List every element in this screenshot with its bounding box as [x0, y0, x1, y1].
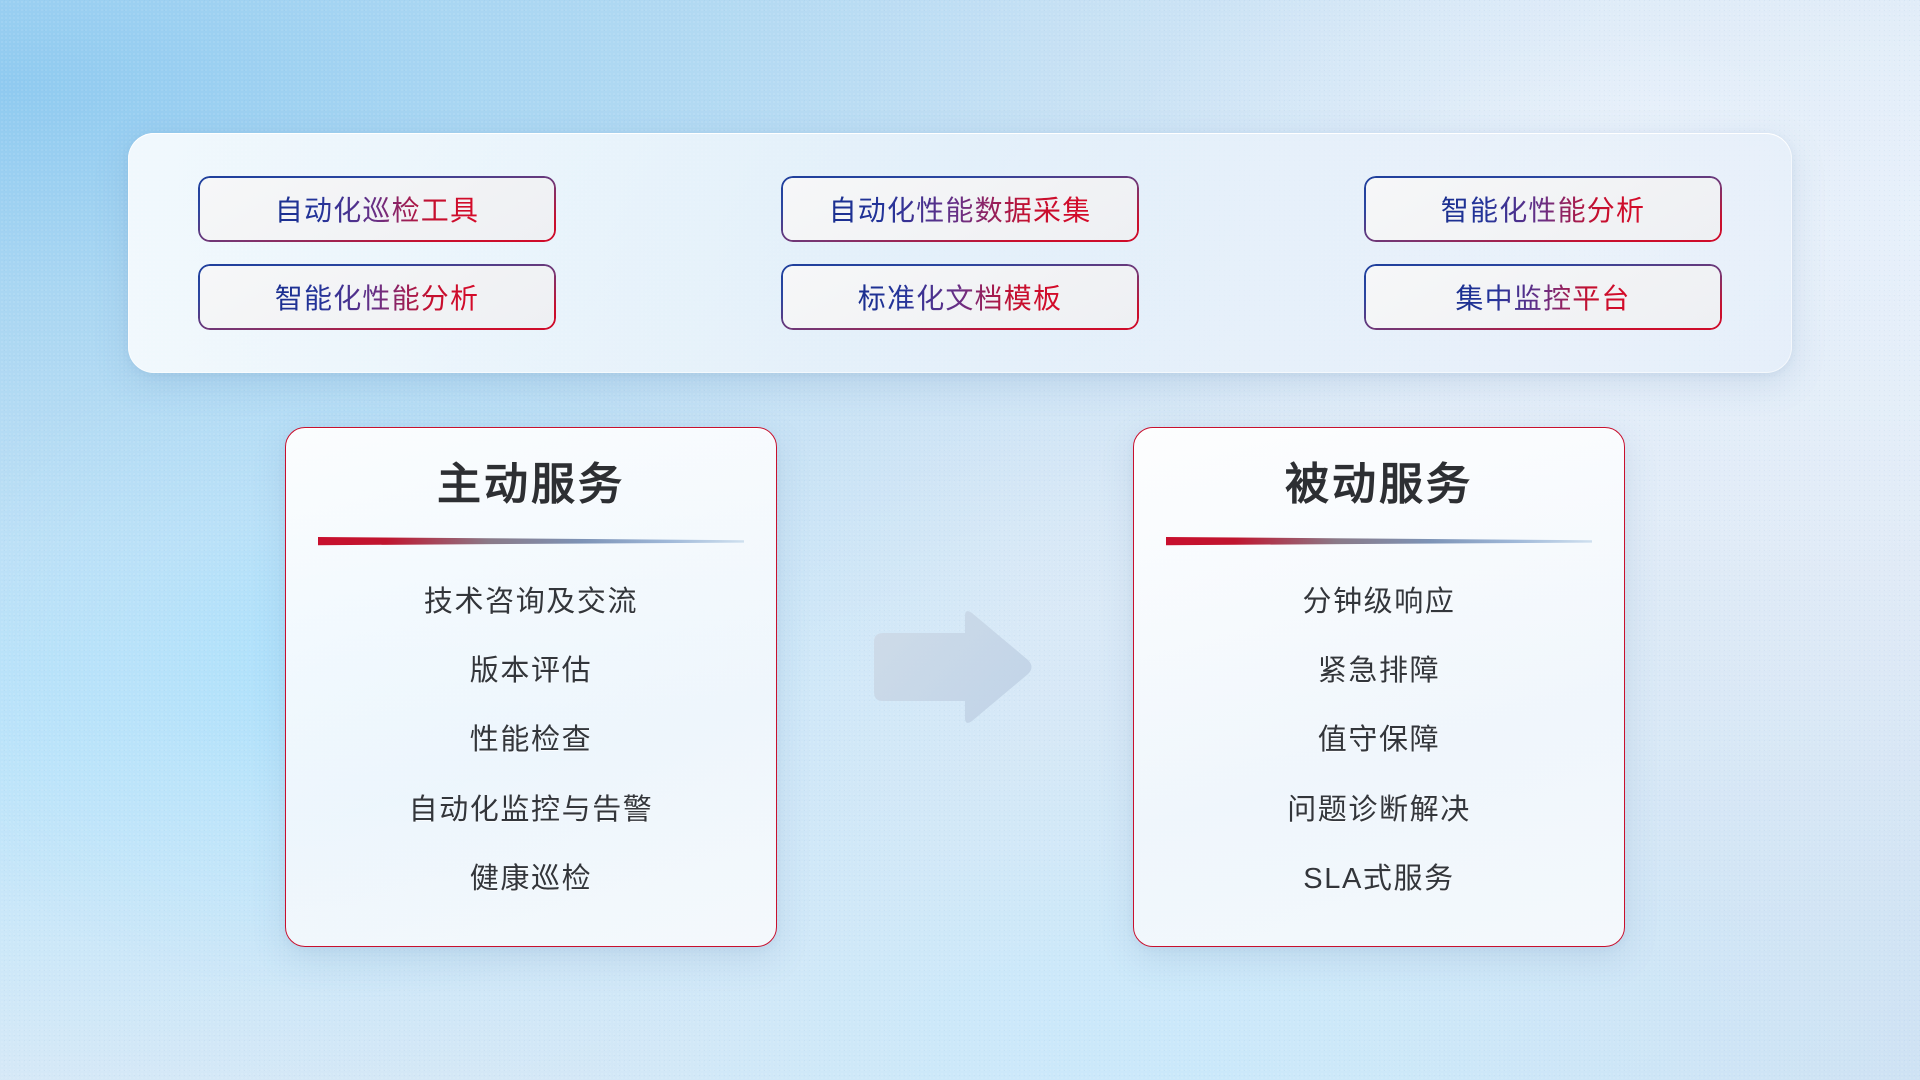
- arrow-right-icon: [868, 608, 1034, 726]
- capability-pill-label: 智能化性能分析: [1441, 189, 1645, 229]
- capability-pill-centralized-monitoring-platform[interactable]: 集中监控平台: [1364, 264, 1722, 330]
- service-card-proactive: 主动服务 技术咨询及交流 版本评估 性能检查 自动化监控与告警 健康巡检: [285, 427, 777, 947]
- list-item: 健康巡检: [470, 862, 592, 897]
- capabilities-row-1: 自动化巡检工具 自动化性能数据采集 智能化性能分析: [198, 176, 1722, 242]
- capability-pill-automated-inspection-tool[interactable]: 自动化巡检工具: [198, 176, 556, 242]
- capability-pill-label: 集中监控平台: [1455, 277, 1630, 317]
- capability-pill-intelligent-performance-analysis-bottom[interactable]: 智能化性能分析: [198, 264, 556, 330]
- title-divider: [1166, 535, 1592, 546]
- list-item: 自动化监控与告警: [409, 793, 654, 828]
- capability-pill-label: 标准化文档模板: [858, 277, 1062, 317]
- service-item-list: 分钟级响应 紧急排障 值守保障 问题诊断解决 SLA式服务: [1168, 556, 1590, 920]
- service-card-title: 主动服务: [437, 460, 625, 511]
- capability-pill-standardized-document-template[interactable]: 标准化文档模板: [781, 264, 1139, 330]
- capability-pill-intelligent-performance-analysis-top[interactable]: 智能化性能分析: [1364, 176, 1722, 242]
- list-item: 紧急排障: [1318, 654, 1440, 689]
- title-divider: [318, 535, 744, 546]
- list-item: 版本评估: [470, 654, 592, 689]
- capabilities-panel: 自动化巡检工具 自动化性能数据采集 智能化性能分析 智能化性能分析 标准化文档模…: [128, 133, 1792, 373]
- capability-pill-label: 智能化性能分析: [275, 277, 479, 317]
- list-item: SLA式服务: [1303, 862, 1454, 897]
- list-item: 值守保障: [1318, 723, 1440, 758]
- capabilities-row-2: 智能化性能分析 标准化文档模板 集中监控平台: [198, 264, 1722, 330]
- list-item: 问题诊断解决: [1287, 793, 1471, 828]
- service-item-list: 技术咨询及交流 版本评估 性能检查 自动化监控与告警 健康巡检: [320, 556, 742, 920]
- service-card-reactive: 被动服务 分钟级响应 紧急排障 值守保障 问题诊断解决 SLA式服务: [1133, 427, 1625, 947]
- list-item: 技术咨询及交流: [424, 585, 638, 620]
- list-item: 分钟级响应: [1302, 585, 1455, 620]
- service-card-title: 被动服务: [1285, 460, 1473, 511]
- capability-pill-label: 自动化巡检工具: [275, 189, 479, 229]
- capability-pill-label: 自动化性能数据采集: [829, 189, 1092, 229]
- list-item: 性能检查: [470, 723, 592, 758]
- capability-pill-automated-performance-data-collection[interactable]: 自动化性能数据采集: [781, 176, 1139, 242]
